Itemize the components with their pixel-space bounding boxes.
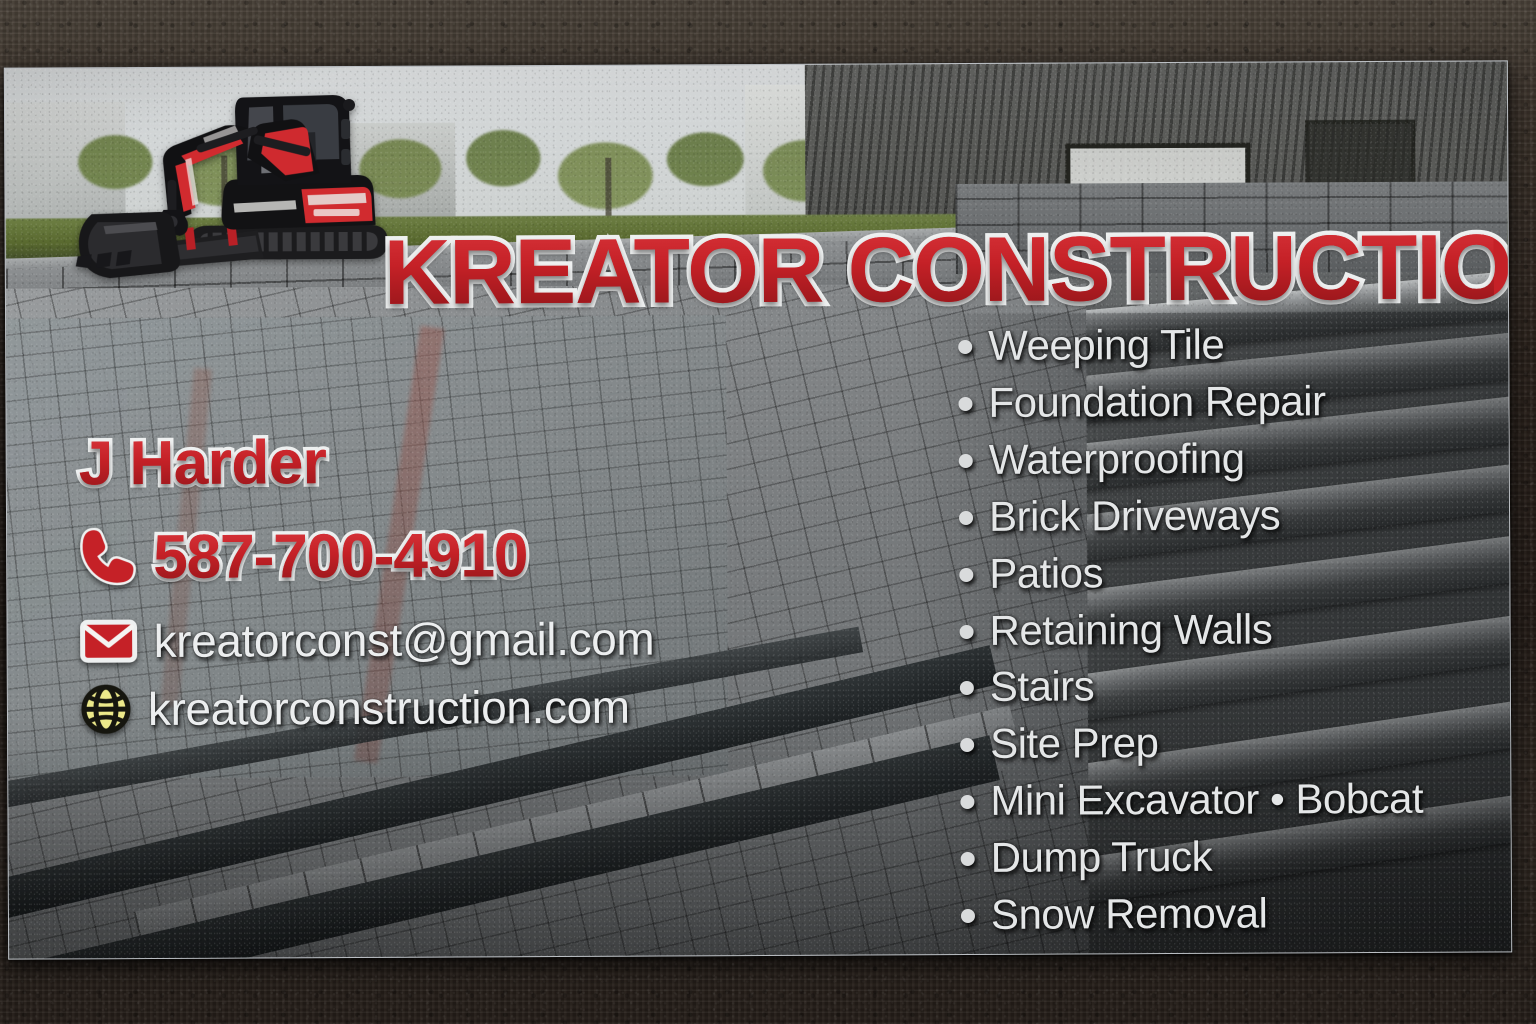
person-name-wrap: J Harder J Harder bbox=[79, 425, 719, 504]
service-label: Foundation Repair bbox=[988, 375, 1325, 430]
person-name: J Harder bbox=[79, 427, 327, 499]
service-label: Site Prep bbox=[990, 717, 1159, 771]
service-label: Snow Removal bbox=[991, 888, 1268, 942]
service-item: Site Prep bbox=[960, 716, 1500, 772]
mini-excavator-icon bbox=[57, 75, 398, 287]
service-item: Patios bbox=[959, 545, 1499, 601]
service-label: Brick Driveways bbox=[989, 489, 1280, 543]
website-row[interactable]: kreatorconstruction.com bbox=[80, 679, 720, 736]
bullet-dot-icon bbox=[959, 511, 973, 525]
contact-block: J Harder J Harder 587-700-4910 587-700-4… bbox=[79, 425, 720, 736]
service-item: Weeping Tile bbox=[958, 317, 1498, 373]
services-list: Weeping TileFoundation RepairWaterproofi… bbox=[958, 317, 1501, 946]
service-label: Waterproofing bbox=[989, 432, 1245, 486]
service-item: Waterproofing bbox=[959, 431, 1499, 487]
service-item: Retaining Walls bbox=[959, 602, 1499, 658]
service-label: Stairs bbox=[990, 661, 1095, 714]
email-address: kreatorconst@gmail.com bbox=[154, 612, 655, 668]
business-card: KREATOR CONSTRUCTION KREATOR CONSTRUCTIO… bbox=[4, 60, 1512, 959]
desk-backdrop: KREATOR CONSTRUCTION KREATOR CONSTRUCTIO… bbox=[0, 0, 1536, 1024]
service-label: Patios bbox=[989, 547, 1103, 600]
globe-icon bbox=[80, 683, 132, 735]
phone-number: 587-700-4910 bbox=[153, 520, 527, 593]
service-item: Snow Removal bbox=[961, 886, 1501, 942]
service-label: Mini Excavator • Bobcat bbox=[990, 773, 1423, 828]
bullet-dot-icon bbox=[960, 624, 974, 638]
service-item: Dump Truck bbox=[961, 830, 1501, 886]
bullet-dot-icon bbox=[960, 795, 974, 809]
email-row[interactable]: kreatorconst@gmail.com bbox=[80, 611, 720, 668]
bullet-dot-icon bbox=[958, 397, 972, 411]
website-url: kreatorconstruction.com bbox=[148, 680, 630, 736]
phone-icon bbox=[79, 526, 137, 588]
phone-number-wrap: 587-700-4910 587-700-4910 bbox=[153, 519, 719, 592]
phone-row[interactable]: 587-700-4910 587-700-4910 bbox=[79, 519, 719, 592]
service-item: Stairs bbox=[960, 659, 1500, 715]
bullet-dot-icon bbox=[961, 852, 975, 866]
bullet-dot-icon bbox=[960, 738, 974, 752]
bullet-dot-icon bbox=[959, 568, 973, 582]
service-label: Weeping Tile bbox=[988, 319, 1224, 373]
service-item: Brick Driveways bbox=[959, 488, 1499, 544]
building-window bbox=[1305, 120, 1415, 191]
service-label: Dump Truck bbox=[991, 831, 1213, 885]
bullet-dot-icon bbox=[958, 340, 972, 354]
company-name-outline: KREATOR CONSTRUCTION bbox=[384, 219, 1494, 321]
service-item: Mini Excavator • Bobcat bbox=[960, 773, 1500, 829]
service-label: Retaining Walls bbox=[989, 603, 1272, 657]
service-item: Foundation Repair bbox=[958, 374, 1498, 430]
bullet-dot-icon bbox=[961, 909, 975, 923]
bullet-dot-icon bbox=[959, 454, 973, 468]
envelope-icon bbox=[80, 619, 138, 663]
bullet-dot-icon bbox=[960, 681, 974, 695]
